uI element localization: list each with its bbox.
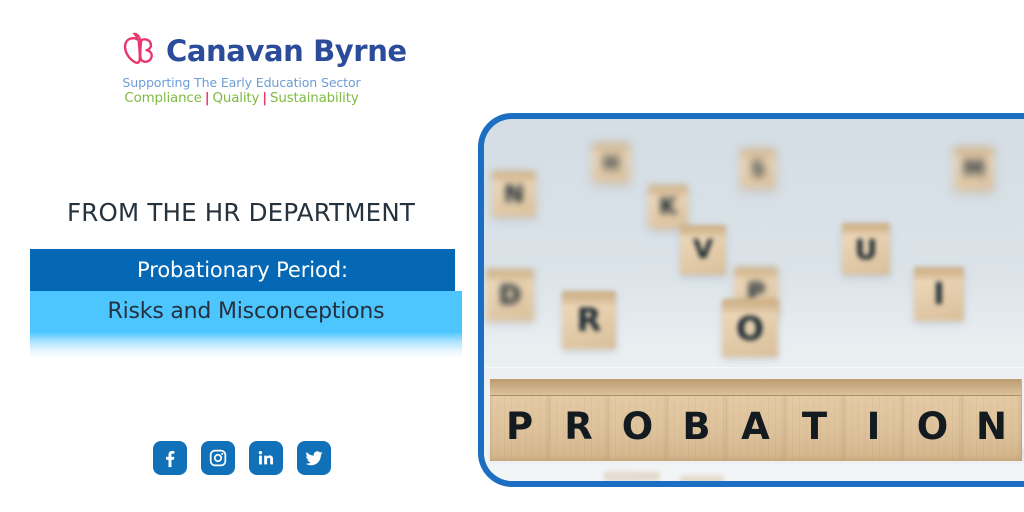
pillar-quality: Quality bbox=[212, 91, 259, 106]
eyebrow-heading: FROM THE HR DEPARTMENT bbox=[67, 198, 415, 227]
pillar-separator-1: | bbox=[202, 91, 213, 106]
bg-block-m: M bbox=[954, 147, 994, 191]
table-surface-line bbox=[484, 367, 1024, 368]
title-line-1: Probationary Period: bbox=[137, 258, 348, 282]
twitter-icon bbox=[303, 447, 325, 469]
logo-lockup: Canavan Byrne bbox=[120, 30, 370, 72]
brand-logo: Canavan Byrne Supporting The Early Educa… bbox=[120, 30, 370, 106]
social-facebook-button[interactable] bbox=[153, 441, 187, 475]
pillar-sustainability: Sustainability bbox=[270, 91, 359, 106]
apple-butterfly-icon bbox=[120, 31, 160, 71]
foreground-blur-piece bbox=[680, 475, 724, 481]
facebook-icon bbox=[159, 447, 181, 469]
bg-block-n: N bbox=[492, 171, 536, 217]
social-instagram-button[interactable] bbox=[201, 441, 235, 475]
letter-block: I bbox=[844, 379, 904, 461]
letter-block: N bbox=[962, 379, 1022, 461]
bg-block-k: K bbox=[648, 185, 688, 229]
social-twitter-button[interactable] bbox=[297, 441, 331, 475]
brand-pillars: Compliance|Quality|Sustainability bbox=[120, 91, 363, 106]
letter-block: O bbox=[608, 379, 668, 461]
bg-block-h: H bbox=[592, 143, 630, 183]
title-line-2: Risks and Misconceptions bbox=[108, 299, 385, 324]
bg-block-v: V bbox=[680, 225, 726, 275]
brand-wordmark: Canavan Byrne bbox=[166, 37, 407, 66]
social-links bbox=[153, 441, 331, 475]
foreground-blur-piece bbox=[604, 471, 660, 481]
title-bar-fade bbox=[30, 332, 462, 358]
poster-canvas: Canavan Byrne Supporting The Early Educa… bbox=[0, 0, 1024, 512]
title-bar-secondary: Risks and Misconceptions bbox=[30, 291, 462, 332]
bg-block-r: R bbox=[562, 291, 616, 349]
bg-block-i: I bbox=[914, 267, 964, 321]
letter-block: T bbox=[785, 379, 845, 461]
bg-block-o: O bbox=[722, 299, 778, 357]
letter-block: B bbox=[667, 379, 727, 461]
instagram-icon bbox=[207, 447, 229, 469]
hero-photo: N H K S M V U D P bbox=[478, 113, 1024, 487]
letter-block: O bbox=[903, 379, 963, 461]
title-bar-primary: Probationary Period: bbox=[30, 249, 455, 291]
brand-tagline: Supporting The Early Education Sector bbox=[120, 75, 363, 90]
bg-block-u: U bbox=[842, 223, 890, 275]
bg-block-d: D bbox=[486, 269, 534, 321]
letter-block: P bbox=[490, 379, 550, 461]
probation-block-row: P R O B A T I O N bbox=[490, 371, 1021, 461]
letter-block: A bbox=[726, 379, 786, 461]
linkedin-icon bbox=[255, 447, 277, 469]
social-linkedin-button[interactable] bbox=[249, 441, 283, 475]
bg-block-s: S bbox=[740, 149, 776, 189]
pillar-compliance: Compliance bbox=[124, 91, 201, 106]
pillar-separator-2: | bbox=[259, 91, 270, 106]
hero-photo-scene: N H K S M V U D P bbox=[484, 119, 1024, 481]
letter-block: R bbox=[549, 379, 609, 461]
